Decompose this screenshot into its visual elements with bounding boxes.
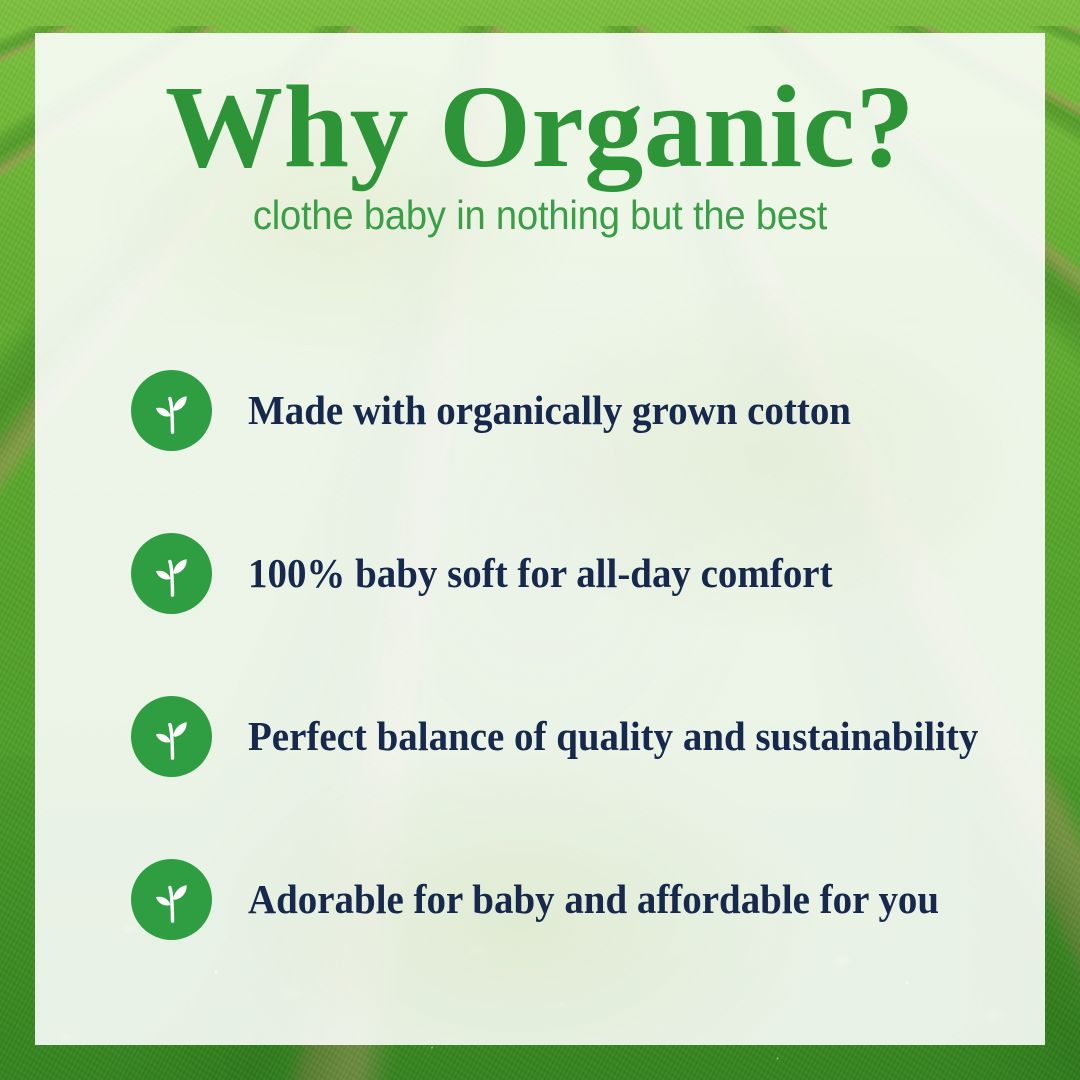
list-item-label: Adorable for baby and affordable for you <box>248 876 939 923</box>
heading-block: Why Organic? clothe baby in nothing but … <box>35 67 1045 238</box>
sprout-icon <box>131 533 212 614</box>
page-subtitle: clothe baby in nothing but the best <box>70 193 1009 238</box>
list-item: Perfect balance of quality and sustainab… <box>131 655 1005 818</box>
sprout-icon <box>131 370 212 451</box>
list-item-label: 100% baby soft for all-day comfort <box>248 550 833 597</box>
why-organic-graphic: Why Organic? clothe baby in nothing but … <box>0 0 1080 1080</box>
benefits-list: Made with organically grown cotton 100% … <box>131 329 1005 981</box>
sprout-icon <box>131 859 212 940</box>
list-item: Adorable for baby and affordable for you <box>131 818 1005 981</box>
list-item: 100% baby soft for all-day comfort <box>131 492 1005 655</box>
list-item-label: Made with organically grown cotton <box>248 387 851 434</box>
sprout-icon <box>131 696 212 777</box>
list-item: Made with organically grown cotton <box>131 329 1005 492</box>
list-item-label: Perfect balance of quality and sustainab… <box>248 713 978 760</box>
content-panel: Why Organic? clothe baby in nothing but … <box>35 33 1045 1045</box>
page-title: Why Organic? <box>35 67 1045 187</box>
